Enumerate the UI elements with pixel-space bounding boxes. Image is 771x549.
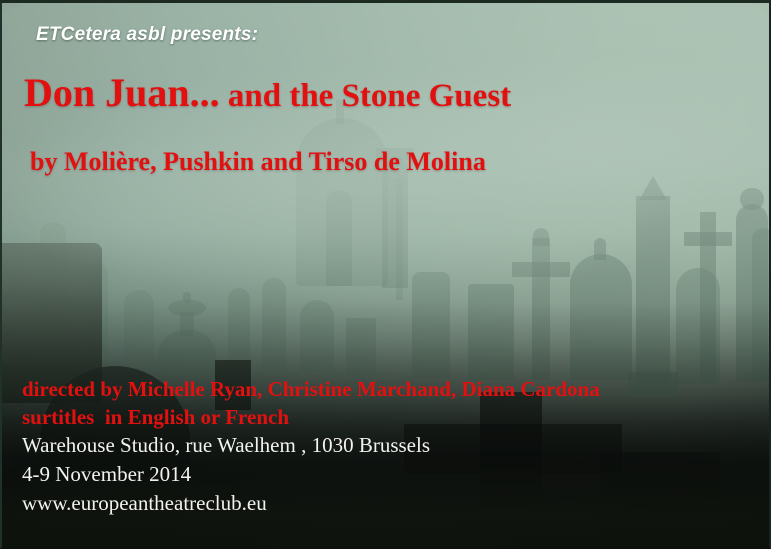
title-part-two: and the Stone Guest <box>220 78 512 114</box>
authors-line: by Molière, Pushkin and Tirso de Molina <box>30 147 486 177</box>
poster: ETCetera asbl presents: Don Juan... and … <box>0 0 771 549</box>
title-part-one: Don Juan... <box>24 70 220 115</box>
poster-text: ETCetera asbl presents: Don Juan... and … <box>0 0 771 549</box>
surtitles-line: surtitles in English or French <box>22 405 289 430</box>
venue-line: Warehouse Studio, rue Waelhem , 1030 Bru… <box>22 433 430 458</box>
presenter-line: ETCetera asbl presents: <box>36 24 258 46</box>
website-line[interactable]: www.europeantheatreclub.eu <box>22 491 267 516</box>
dates-line: 4-9 November 2014 <box>22 462 191 487</box>
directors-line: directed by Michelle Ryan, Christine Mar… <box>22 377 600 402</box>
poster-title: Don Juan... and the Stone Guest <box>24 73 511 113</box>
